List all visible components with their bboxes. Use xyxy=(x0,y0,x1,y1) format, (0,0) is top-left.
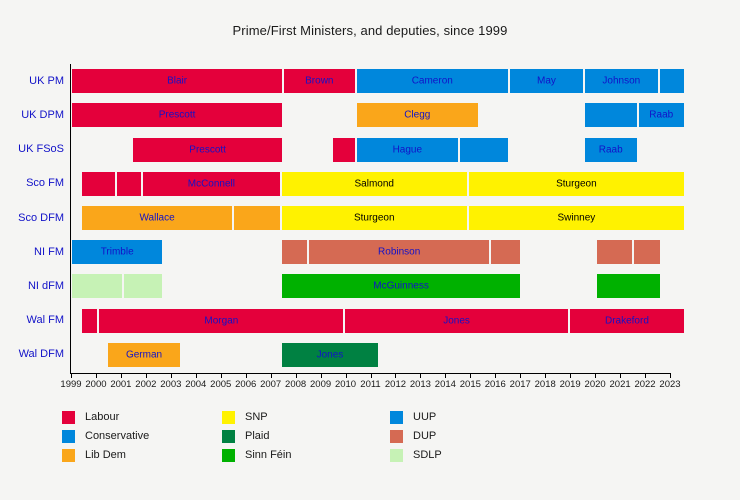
timeline-bar: Morgan xyxy=(98,308,344,334)
x-axis-tick-label: 2016 xyxy=(485,379,506,390)
x-axis-tick xyxy=(520,373,521,378)
timeline-bar xyxy=(81,171,116,197)
x-axis-tick-label: 1999 xyxy=(60,379,81,390)
timeline-bar xyxy=(584,102,638,128)
row-label-ni-fm: NI FM xyxy=(0,246,64,258)
timeline-bar xyxy=(659,68,685,94)
y-axis-category-labels: UK PMUK DPMUK FSoSSco FMSco DFMNI FMNI d… xyxy=(0,64,64,372)
x-axis-tick-label: 2006 xyxy=(235,379,256,390)
legend-swatch xyxy=(222,449,235,462)
x-axis-tick-label: 2003 xyxy=(160,379,181,390)
x-axis-tick xyxy=(121,373,122,378)
timeline-bar: Brown xyxy=(283,68,355,94)
timeline-bar-label: German xyxy=(108,349,180,360)
x-axis-tick-label: 2007 xyxy=(260,379,281,390)
timeline-bar: Raab xyxy=(584,137,638,163)
timeline-bar: Swinney xyxy=(468,205,685,231)
timeline-bar: Johnson xyxy=(584,68,659,94)
row-label-sco-fm: Sco FM xyxy=(0,177,64,189)
timeline-bar: Clegg xyxy=(356,102,480,128)
timeline-bar-label: Jones xyxy=(282,349,379,360)
legend-swatch xyxy=(390,430,403,443)
x-axis-tick xyxy=(246,373,247,378)
x-axis-tick-label: 2023 xyxy=(659,379,680,390)
row-label-wal-dfm: Wal DFM xyxy=(0,348,64,360)
timeline-bar-label: Clegg xyxy=(357,110,479,121)
x-axis-tick-label: 2017 xyxy=(510,379,531,390)
x-axis-tick xyxy=(470,373,471,378)
x-axis-tick-label: 2020 xyxy=(585,379,606,390)
timeline-bar-label: Sturgeon xyxy=(469,178,684,189)
legend-label: Sinn Féin xyxy=(245,446,291,465)
x-axis-tick-label: 2002 xyxy=(135,379,156,390)
timeline-bar-label: Raab xyxy=(639,110,684,121)
x-axis-tick xyxy=(146,373,147,378)
timeline-bar xyxy=(633,239,662,265)
timeline-bar-label: Wallace xyxy=(82,213,232,224)
timeline-bar: Wallace xyxy=(81,205,233,231)
x-axis-tick-label: 2010 xyxy=(335,379,356,390)
x-axis-tick xyxy=(271,373,272,378)
timeline-bar: Cameron xyxy=(356,68,509,94)
x-axis-tick xyxy=(171,373,172,378)
legend-swatch xyxy=(62,430,75,443)
timeline-bar: Raab xyxy=(638,102,685,128)
x-axis-tick-label: 2005 xyxy=(210,379,231,390)
x-axis-tick-label: 2019 xyxy=(560,379,581,390)
timeline-bar-label: Salmond xyxy=(282,178,467,189)
x-axis-tick-label: 2022 xyxy=(634,379,655,390)
x-axis-tick xyxy=(346,373,347,378)
legend-label: SNP xyxy=(245,408,268,427)
timeline-bar-label: May xyxy=(510,76,583,87)
timeline-bar: McConnell xyxy=(142,171,281,197)
timeline-bar: Drakeford xyxy=(569,308,685,334)
x-axis-tick-label: 2014 xyxy=(435,379,456,390)
x-axis-tick-label: 2008 xyxy=(285,379,306,390)
chart-page: Prime/First Ministers, and deputies, sin… xyxy=(0,0,740,500)
timeline-bar-label: Swinney xyxy=(469,213,684,224)
timeline-bar xyxy=(123,273,163,299)
timeline-bar-label: Robinson xyxy=(309,247,489,258)
legend-label: Labour xyxy=(85,408,119,427)
legend-label: UUP xyxy=(413,408,436,427)
legend-label: Plaid xyxy=(245,427,269,446)
row-label-ni-dfm: NI dFM xyxy=(0,280,64,292)
legend-swatch xyxy=(222,430,235,443)
legend-label: Conservative xyxy=(85,427,149,446)
timeline-bar xyxy=(459,137,509,163)
timeline-bar xyxy=(233,205,280,231)
timeline-bar xyxy=(81,308,98,334)
timeline-bar-label: Prescott xyxy=(133,144,282,155)
timeline-bar-label: Drakeford xyxy=(570,315,684,326)
x-axis-tick-label: 2004 xyxy=(185,379,206,390)
timeline-bar xyxy=(116,171,142,197)
timeline-bar-label: Blair xyxy=(72,76,282,87)
x-axis-tick xyxy=(221,373,222,378)
page-title: Prime/First Ministers, and deputies, sin… xyxy=(0,23,740,38)
x-axis-tick xyxy=(196,373,197,378)
x-axis-tick xyxy=(71,373,72,378)
x-axis-tick xyxy=(96,373,97,378)
timeline-bar xyxy=(596,239,632,265)
row-label-wal-fm: Wal FM xyxy=(0,314,64,326)
timeline-bar: Prescott xyxy=(132,137,283,163)
timeline-bar-label: Morgan xyxy=(99,315,343,326)
legend-label: SDLP xyxy=(413,446,442,465)
x-axis-tick xyxy=(371,373,372,378)
timeline-bar: Jones xyxy=(344,308,569,334)
legend-swatch xyxy=(222,411,235,424)
x-axis-tick xyxy=(545,373,546,378)
timeline-bar xyxy=(332,137,356,163)
timeline-bar-label: Prescott xyxy=(72,110,282,121)
timeline-bar xyxy=(71,273,123,299)
legend-swatch xyxy=(390,411,403,424)
row-label-uk-pm: UK PM xyxy=(0,75,64,87)
timeline-bar-label: Jones xyxy=(345,315,568,326)
timeline-bar-label: Trimble xyxy=(72,247,162,258)
timeline-bar: Sturgeon xyxy=(281,205,468,231)
timeline-bar: German xyxy=(107,342,181,368)
x-axis-tick-label: 2011 xyxy=(360,379,380,390)
x-axis-tick xyxy=(296,373,297,378)
x-axis-tick xyxy=(445,373,446,378)
x-axis-tick-label: 2021 xyxy=(610,379,631,390)
x-axis-tick-label: 2018 xyxy=(535,379,556,390)
x-axis-tick xyxy=(495,373,496,378)
timeline-bar-label: McGuinness xyxy=(282,281,521,292)
timeline-bar: Salmond xyxy=(281,171,468,197)
x-axis-tick-label: 2015 xyxy=(460,379,481,390)
timeline-bar: Blair xyxy=(71,68,283,94)
legend-swatch xyxy=(62,449,75,462)
timeline-bar-label: McConnell xyxy=(143,178,280,189)
timeline-bar: McGuinness xyxy=(281,273,522,299)
x-axis-tick xyxy=(670,373,671,378)
timeline-bar-label: Brown xyxy=(284,76,354,87)
x-axis-tick xyxy=(645,373,646,378)
timeline-bar: Robinson xyxy=(308,239,490,265)
timeline-bar: Hague xyxy=(356,137,460,163)
chart-legend: LabourConservativeLib DemSNPPlaidSinn Fé… xyxy=(0,408,740,478)
x-axis-tick xyxy=(321,373,322,378)
timeline-bar-label: Hague xyxy=(357,144,459,155)
x-axis-tick-label: 2012 xyxy=(385,379,406,390)
x-axis-tick xyxy=(420,373,421,378)
timeline-bar xyxy=(490,239,521,265)
x-axis-tick xyxy=(395,373,396,378)
timeline-bar xyxy=(596,273,661,299)
legend-label: Lib Dem xyxy=(85,446,126,465)
x-axis-tick xyxy=(620,373,621,378)
timeline-bar-label: Raab xyxy=(585,144,637,155)
timeline-bar-label: Sturgeon xyxy=(282,213,467,224)
x-axis-tick-label: 2001 xyxy=(110,379,131,390)
timeline-bar-label: Cameron xyxy=(357,76,508,87)
timeline-bar xyxy=(281,239,308,265)
timeline-bar: Jones xyxy=(281,342,380,368)
timeline-plot-area: BlairBrownCameronMayJohnsonPrescottClegg… xyxy=(71,64,670,372)
x-axis-tick xyxy=(595,373,596,378)
timeline-bar: Trimble xyxy=(71,239,163,265)
x-axis-tick-label: 2000 xyxy=(85,379,106,390)
timeline-bar: Sturgeon xyxy=(468,171,685,197)
timeline-bar-label: Johnson xyxy=(585,76,658,87)
x-axis-tick-label: 2009 xyxy=(310,379,331,390)
row-label-sco-dfm: Sco DFM xyxy=(0,212,64,224)
timeline-bar: May xyxy=(509,68,584,94)
row-label-uk-fsos: UK FSoS xyxy=(0,143,64,155)
x-axis-tick xyxy=(570,373,571,378)
timeline-bar: Prescott xyxy=(71,102,283,128)
legend-swatch xyxy=(62,411,75,424)
legend-label: DUP xyxy=(413,427,436,446)
row-label-uk-dpm: UK DPM xyxy=(0,109,64,121)
x-axis-tick-label: 2013 xyxy=(410,379,431,390)
legend-swatch xyxy=(390,449,403,462)
